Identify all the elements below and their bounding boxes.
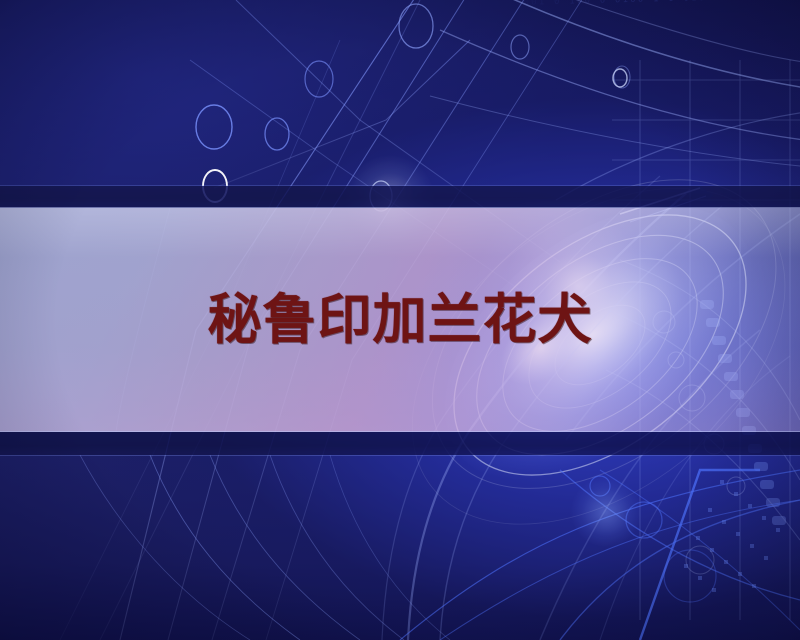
title-banner: 0001 0 100 0 0100 1 0 010 0 0001 00 0 10… (0, 0, 800, 640)
bottom-dot-matrix (684, 480, 780, 592)
network-node-ellipses (196, 4, 630, 211)
dark-band-bottom-tint (0, 432, 800, 455)
banner-title: 秘鲁印加兰花犬 (208, 293, 593, 347)
arc-node-icon (613, 69, 627, 87)
dark-band-top-tint (0, 186, 800, 208)
bottom-circuit-lines (400, 470, 800, 640)
tech-arc-lines (430, 0, 800, 200)
title-container: 秘鲁印加兰花犬 (0, 208, 800, 432)
band-divider-bottom-outer (0, 455, 800, 456)
dark-band-bottom (0, 432, 800, 455)
dark-band-top (0, 186, 800, 208)
band-divider-top-outer (0, 185, 800, 186)
